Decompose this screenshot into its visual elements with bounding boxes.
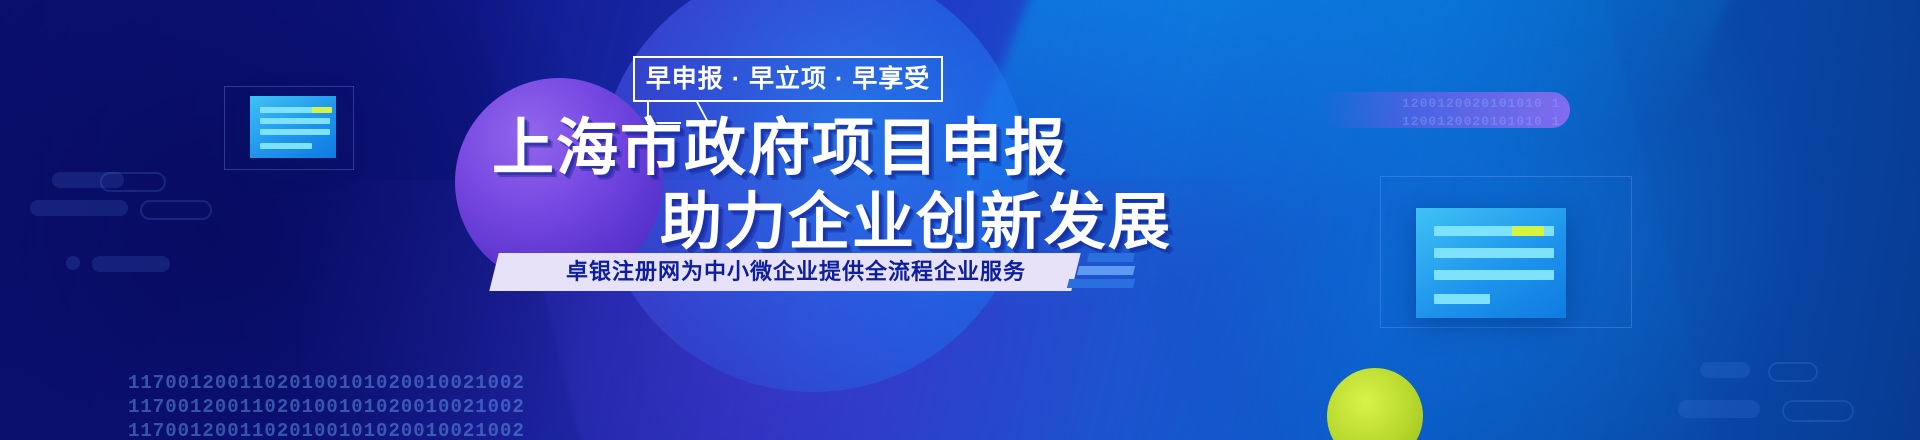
doc-highlight <box>1512 226 1544 236</box>
decorative-pill <box>100 172 166 192</box>
digit-stream-bottom-left: 11700120011020100101020010021002 <box>128 420 525 440</box>
decorative-dot <box>66 256 80 270</box>
ribbon-chevron <box>1087 253 1135 262</box>
doc-line <box>260 118 330 124</box>
decorative-pill <box>1768 362 1818 382</box>
headline-line-2: 助力企业创新发展 <box>660 192 1172 254</box>
ribbon-chevron <box>1067 279 1135 288</box>
doc-line <box>1434 270 1554 280</box>
doc-highlight <box>312 107 332 113</box>
tagline-text: 早申报 · 早立项 · 早享受 <box>646 67 930 92</box>
decorative-pill <box>1782 400 1854 422</box>
doc-line <box>1434 294 1490 304</box>
decorative-pill <box>1678 400 1760 418</box>
tagline-callout: 早申报 · 早立项 · 早享受 <box>633 56 943 102</box>
digit-stream-bottom-left: 11700120011020100101020010021002 <box>128 372 525 394</box>
subtitle-text: 卓银注册网为中小微企业提供全流程企业服务 <box>516 258 1076 286</box>
decorative-pill <box>30 200 128 216</box>
document-card-right <box>1416 208 1566 318</box>
promo-banner: 11700120011020100101020010021002 1170012… <box>0 0 1920 440</box>
ribbon-chevron <box>1077 266 1135 275</box>
doc-line <box>260 143 312 149</box>
decorative-pill <box>1700 362 1750 378</box>
decorative-pill <box>140 200 212 220</box>
digit-stream-top-right: 1200120020101010 1 <box>1402 96 1560 111</box>
decorative-pill <box>92 256 170 272</box>
document-card-left <box>250 96 336 158</box>
doc-line <box>260 129 330 135</box>
doc-line <box>1434 248 1554 258</box>
digit-stream-bottom-left: 11700120011020100101020010021002 <box>128 396 525 418</box>
headline-line-1: 上海市政府项目申报 <box>492 118 1068 180</box>
digit-stream-top-right: 1200120020101010 1 <box>1402 114 1560 129</box>
